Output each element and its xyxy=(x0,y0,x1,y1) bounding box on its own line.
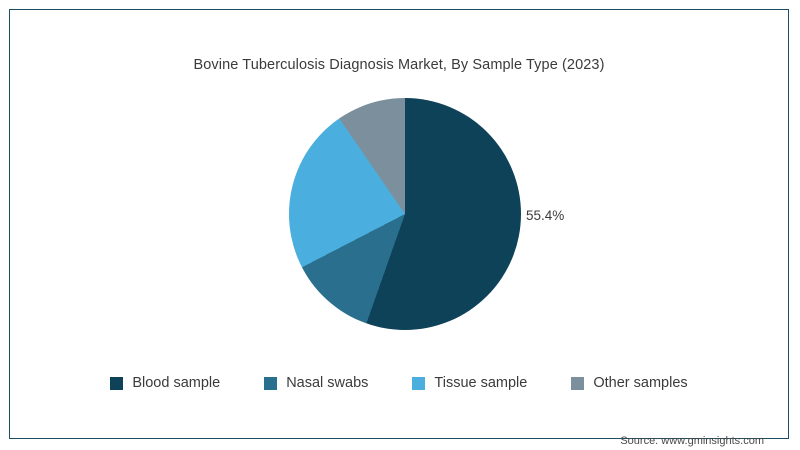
slice-value-label: 55.4% xyxy=(526,208,564,223)
legend-swatch xyxy=(412,377,425,390)
legend-swatch xyxy=(571,377,584,390)
pie-slices xyxy=(289,98,521,330)
legend-swatch xyxy=(264,377,277,390)
legend-item[interactable]: Other samples xyxy=(571,375,687,391)
legend-label: Nasal swabs xyxy=(286,375,368,391)
legend-item[interactable]: Nasal swabs xyxy=(264,375,368,391)
pie-chart xyxy=(289,98,521,330)
chart-frame: Bovine Tuberculosis Diagnosis Market, By… xyxy=(9,9,789,439)
source-note: Source: www.gminsights.com xyxy=(620,435,764,447)
legend-label: Other samples xyxy=(593,375,687,391)
legend-label: Blood sample xyxy=(132,375,220,391)
chart-title: Bovine Tuberculosis Diagnosis Market, By… xyxy=(10,57,788,73)
legend-label: Tissue sample xyxy=(434,375,527,391)
legend-swatch xyxy=(110,377,123,390)
legend-item[interactable]: Blood sample xyxy=(110,375,220,391)
legend-item[interactable]: Tissue sample xyxy=(412,375,527,391)
chart-legend: Blood sampleNasal swabsTissue sampleOthe… xyxy=(10,375,788,391)
